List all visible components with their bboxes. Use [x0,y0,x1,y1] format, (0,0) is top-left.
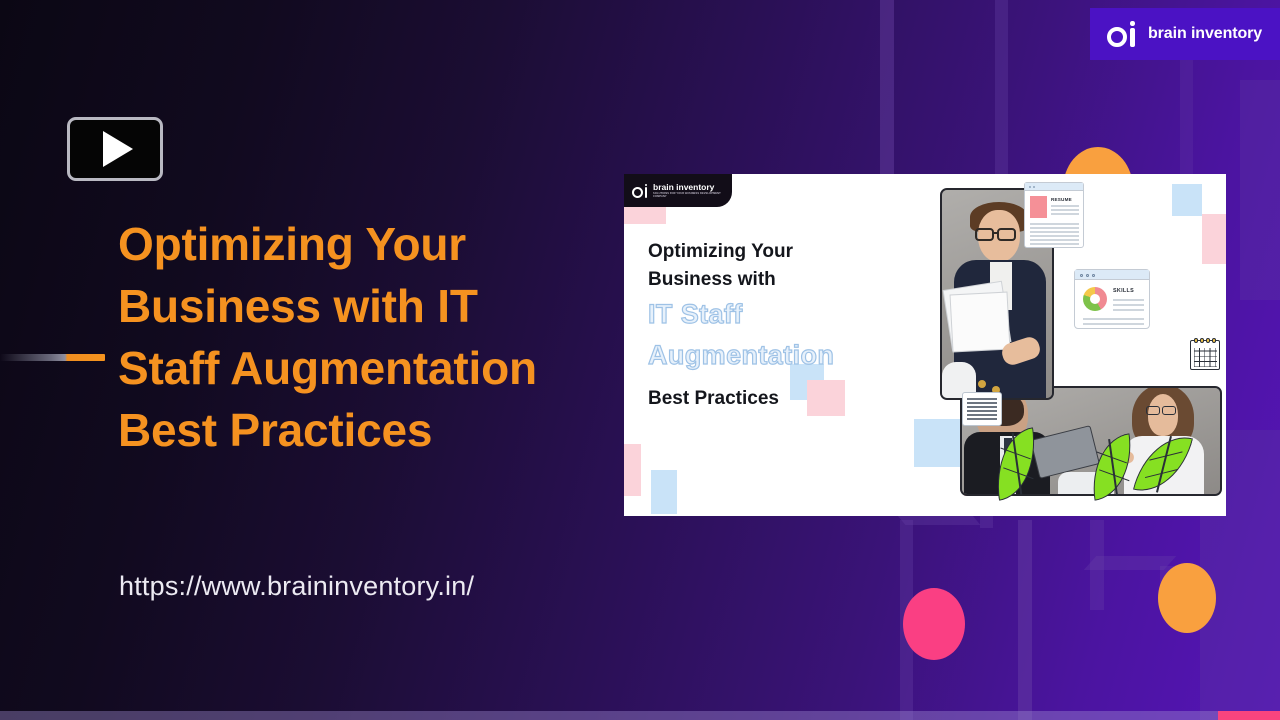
progress-track[interactable] [0,711,1280,720]
circuit-trace [995,0,1008,180]
thumbnail-headline-hollow1: IT Staff [648,294,928,335]
decor-square-blue [651,470,677,514]
site-url-link[interactable]: https://www.braininventory.in/ [119,571,474,602]
play-button[interactable] [67,117,163,181]
bi-logo-icon [1107,21,1137,47]
play-triangle-icon [103,131,133,167]
thumbnail-headline-hollow2: Augmentation [648,335,928,376]
orange-blob [1158,563,1216,633]
resume-label: RESUME [1051,197,1072,202]
accent-rule [0,354,105,361]
decor-square-pink [1202,214,1226,264]
skills-label: SKILLS [1113,288,1134,294]
bi-logo-icon [632,184,648,198]
thumbnail-logo-tab: brain inventory SOLUTIONS FOR YOUR BUSIN… [624,174,732,207]
page-title: Optimizing Your Business with IT Staff A… [118,213,638,461]
circuit-trace [1018,520,1032,720]
brand-badge[interactable]: brain inventory [1090,8,1280,60]
skills-donut-chart [1083,287,1107,311]
calendar-icon [1190,340,1220,370]
thumbnail-headline: Optimizing Your Business with IT Staff A… [648,238,928,413]
video-thumbnail[interactable]: brain inventory SOLUTIONS FOR YOUR BUSIN… [624,174,1226,516]
slide-canvas: Optimizing Your Business with IT Staff A… [0,0,1280,720]
thumbnail-headline-line5: Best Practices [648,385,928,413]
decor-square-blue [914,419,962,467]
pink-blob [903,588,965,660]
brand-name: brain inventory [1148,25,1262,43]
decor-square-pink [624,444,641,496]
decor-square-blue [1172,184,1202,216]
progress-fill [1218,711,1280,720]
thumbnail-headline-line2: Business with [648,266,928,294]
thumbnail-headline-line1: Optimizing Your [648,238,928,266]
skills-card: SKILLS [1074,269,1150,329]
thumbnail-brand-tagline: SOLUTIONS FOR YOUR BUSINESS DEVELOPMENT … [653,193,732,198]
background-block [1240,80,1280,300]
resume-card: RESUME [1024,182,1084,248]
document-card [962,392,1002,426]
thumbnail-brand-name: brain inventory [653,183,732,192]
